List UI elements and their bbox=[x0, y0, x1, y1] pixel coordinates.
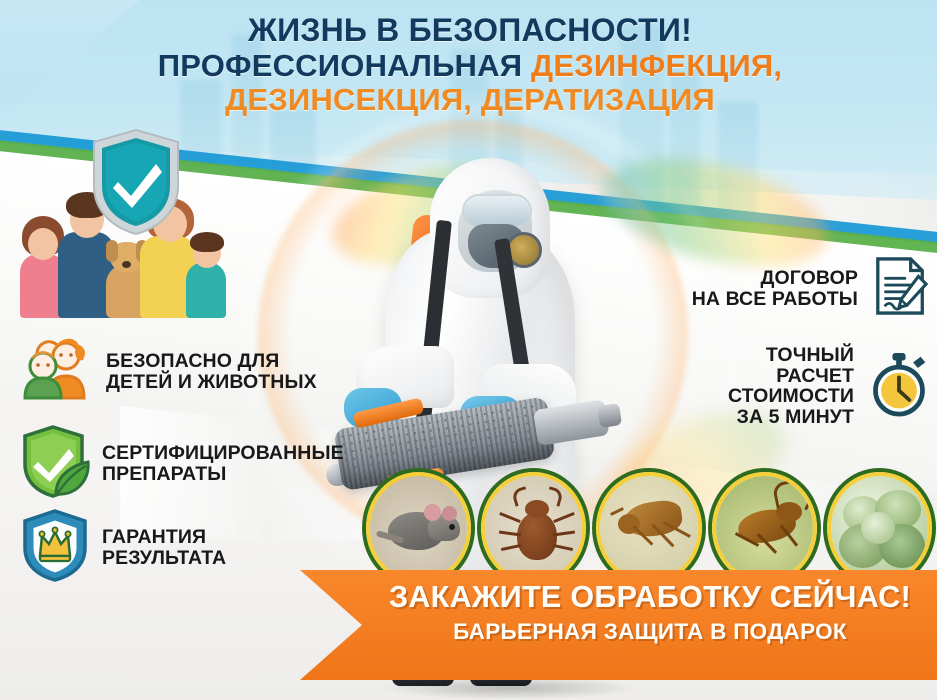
family-protection-illustration bbox=[14, 128, 229, 318]
pest-circle-bed-bug bbox=[481, 472, 586, 584]
pest-rat-ear-right bbox=[442, 506, 457, 521]
banner-line-1: ЗАКАЖИТЕ ОБРАБОТКУ СЕЙЧАС! bbox=[374, 580, 926, 615]
feature-contract-for-all-works: ДОГОВОР НА ВСЕ РАБОТЫ bbox=[690, 255, 930, 322]
feature-right-0-line2: НА ВСЕ РАБОТЫ bbox=[692, 288, 858, 310]
fogger-tip bbox=[597, 403, 622, 428]
stopwatch-icon bbox=[868, 351, 930, 422]
pest-control-advertisement-poster: ЖИЗНЬ В БЕЗОПАСНОСТИ! ПРОФЕССИОНАЛЬНАЯ Д… bbox=[0, 0, 937, 700]
feature-left-1-line1: СЕРТИФИЦИРОВАННЫЕ bbox=[102, 442, 344, 464]
poster-headline: ЖИЗНЬ В БЕЗОПАСНОСТИ! ПРОФЕССИОНАЛЬНАЯ Д… bbox=[60, 14, 880, 116]
feature-right-1-text: ТОЧНЫЙ РАСЧЕТ СТОИМОСТИ ЗА 5 МИНУТ bbox=[690, 345, 854, 428]
pest-circle-flea bbox=[596, 472, 701, 584]
pest-circle-mold bbox=[827, 472, 932, 584]
feature-left-2-line1: ГАРАНТИЯ bbox=[102, 526, 206, 548]
feature-exact-price-in-5-minutes: ТОЧНЫЙ РАСЧЕТ СТОИМОСТИ ЗА 5 МИНУТ bbox=[690, 345, 930, 428]
headline-line-2: ПРОФЕССИОНАЛЬНАЯ ДЕЗИНФЕКЦИЯ, bbox=[60, 50, 880, 82]
feature-left-0-line1: БЕЗОПАСНО ДЛЯ bbox=[106, 350, 279, 372]
feature-result-guarantee: ГАРАНТИЯ РЕЗУЛЬТАТА bbox=[20, 508, 340, 587]
banner-line-2: БАРЬЕРНАЯ ЗАЩИТА В ПОДАРОК bbox=[374, 619, 926, 645]
feature-right-1-line1: ТОЧНЫЙ РАСЧЕТ bbox=[766, 344, 854, 387]
feature-certified-products: СЕРТИФИЦИРОВАННЫЕ ПРЕПАРАТЫ bbox=[20, 424, 340, 503]
feature-left-1-line2: ПРЕПАРАТЫ bbox=[102, 463, 226, 485]
headline-line-2-accent: ДЕЗИНФЕКЦИЯ, bbox=[531, 48, 782, 83]
shield-checkmark-icon bbox=[90, 128, 182, 236]
pest-circle-cockroach bbox=[712, 472, 817, 584]
feature-left-0-line2: ДЕТЕЙ И ЖИВОТНЫХ bbox=[106, 371, 317, 393]
worker-goggles bbox=[462, 194, 532, 228]
guarantee-shield-crown-icon bbox=[20, 508, 90, 587]
pest-mold-blob-5 bbox=[861, 512, 895, 544]
headline-line-2-dark: ПРОФЕССИОНАЛЬНАЯ bbox=[158, 48, 522, 83]
feature-right-1-line3: ЗА 5 МИНУТ bbox=[737, 406, 854, 428]
feature-right-1-line2: СТОИМОСТИ bbox=[728, 385, 854, 407]
feature-left-0-text: БЕЗОПАСНО ДЛЯ ДЕТЕЙ И ЖИВОТНЫХ bbox=[106, 351, 317, 392]
banner-text: ЗАКАЖИТЕ ОБРАБОТКУ СЕЙЧАС! БАРЬЕРНАЯ ЗАЩ… bbox=[374, 580, 926, 645]
pest-circle-rat bbox=[366, 472, 471, 584]
feature-left-2-text: ГАРАНТИЯ РЕЗУЛЬТАТА bbox=[102, 527, 226, 568]
certified-shield-leaf-icon bbox=[20, 424, 90, 503]
pest-gallery bbox=[366, 472, 932, 576]
children-pets-icon bbox=[20, 336, 94, 407]
feature-safe-for-children-and-pets: БЕЗОПАСНО ДЛЯ ДЕТЕЙ И ЖИВОТНЫХ bbox=[20, 336, 340, 407]
pest-rat-ear-left bbox=[424, 504, 441, 521]
pest-bedbug-abdomen bbox=[517, 512, 557, 560]
headline-line-1: ЖИЗНЬ В БЕЗОПАСНОСТИ! bbox=[60, 14, 880, 47]
feature-left-1-text: СЕРТИФИЦИРОВАННЫЕ ПРЕПАРАТЫ bbox=[102, 443, 344, 484]
pest-rat-eye bbox=[449, 524, 455, 530]
feature-left-2-line2: РЕЗУЛЬТАТА bbox=[102, 547, 226, 569]
call-to-action-banner[interactable]: ЗАКАЖИТЕ ОБРАБОТКУ СЕЙЧАС! БАРЬЕРНАЯ ЗАЩ… bbox=[300, 570, 937, 680]
feature-right-0-line1: ДОГОВОР bbox=[761, 267, 859, 289]
headline-line-3: ДЕЗИНСЕКЦИЯ, ДЕРАТИЗАЦИЯ bbox=[60, 84, 880, 116]
feature-right-0-text: ДОГОВОР НА ВСЕ РАБОТЫ bbox=[692, 268, 858, 309]
contract-document-pen-icon bbox=[872, 255, 930, 322]
